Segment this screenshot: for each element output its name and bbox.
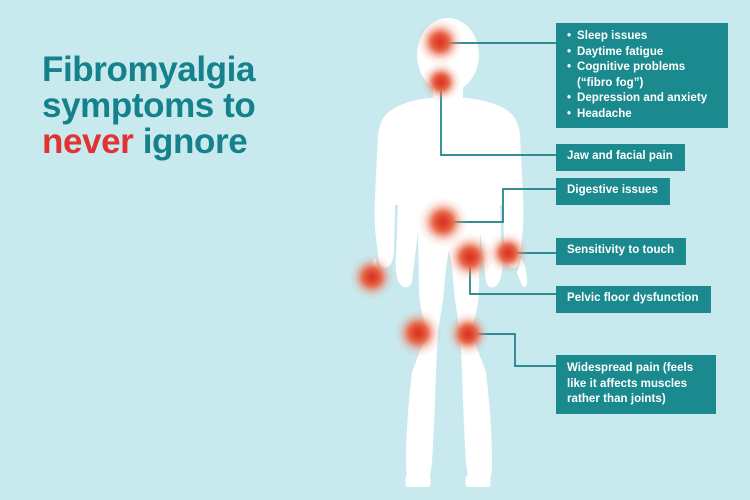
list-item-continuation: (“fibro fog”) (567, 76, 718, 92)
list-item-label: Daytime fatigue (577, 46, 663, 58)
callout-cognitive-symptoms[interactable]: •Sleep issues •Daytime fatigue •Cognitiv… (556, 23, 728, 128)
callout-widespread-pain[interactable]: Widespread pain (feels like it affects m… (556, 355, 716, 414)
list-item-label: Sleep issues (577, 30, 647, 42)
list-item: •Depression and anxiety (567, 91, 718, 107)
callout-pelvic-label: Pelvic floor dysfunction (567, 292, 699, 304)
bullet-icon: • (567, 29, 571, 45)
list-item-label: Cognitive problems (577, 61, 685, 73)
callout-widespread-label: Widespread pain (feels like it affects m… (567, 362, 693, 405)
callout-sensitivity-to-touch[interactable]: Sensitivity to touch (556, 238, 686, 265)
bullet-icon: • (567, 91, 571, 107)
list-item: •Daytime fatigue (567, 45, 718, 61)
callout-pelvic-floor-dysfunction[interactable]: Pelvic floor dysfunction (556, 286, 711, 313)
callout-digestive-label: Digestive issues (567, 184, 658, 196)
list-item: •Sleep issues (567, 29, 718, 45)
callout-digestive-issues[interactable]: Digestive issues (556, 178, 670, 205)
connector-widespread (468, 334, 556, 366)
cognitive-symptom-list: •Sleep issues •Daytime fatigue •Cognitiv… (567, 29, 718, 122)
connector-digestive (443, 189, 556, 222)
list-item-label: Depression and anxiety (577, 92, 707, 104)
callout-jaw-label: Jaw and facial pain (567, 150, 673, 162)
list-item: •Headache (567, 107, 718, 123)
list-item: •Cognitive problems (567, 60, 718, 76)
callout-sensitivity-label: Sensitivity to touch (567, 244, 674, 256)
infographic-canvas: Fibromyalgia symptoms to never ignore (0, 0, 750, 500)
list-item-label: Headache (577, 108, 632, 120)
bullet-icon: • (567, 60, 571, 76)
connector-pelvic (470, 258, 556, 294)
bullet-icon: • (567, 107, 571, 123)
bullet-icon: • (567, 45, 571, 61)
connector-jaw (441, 83, 556, 155)
callout-jaw-pain[interactable]: Jaw and facial pain (556, 144, 685, 171)
